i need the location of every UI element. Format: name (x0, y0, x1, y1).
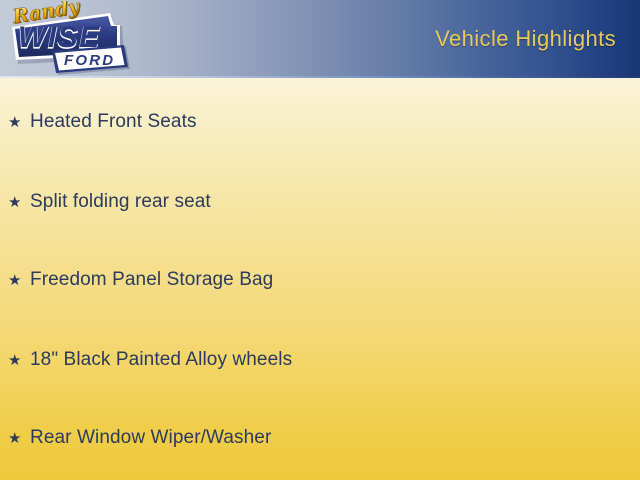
randy-wise-ford-logo: WISE WISE FORD Randy Randy (2, 1, 138, 77)
list-item: ★ Freedom Panel Storage Bag (8, 265, 273, 295)
star-icon: ★ (8, 115, 30, 130)
logo-ford-text: FORD (64, 52, 115, 69)
list-item: ★ Rear Window Wiper/Washer (8, 423, 271, 453)
page-title: Vehicle Highlights (435, 26, 616, 52)
list-item-label: Heated Front Seats (30, 112, 197, 133)
vehicle-highlights-list: ★ Heated Front Seats ★ Split folding rea… (0, 78, 640, 480)
header-bar: WISE WISE FORD Randy Randy Vehicle Highl… (0, 0, 640, 78)
star-icon: ★ (8, 353, 30, 368)
star-icon: ★ (8, 195, 30, 210)
star-icon: ★ (8, 431, 30, 446)
list-item: ★ Split folding rear seat (8, 187, 211, 217)
list-item: ★ 18" Black Painted Alloy wheels (8, 345, 292, 375)
list-item-label: Split folding rear seat (30, 192, 211, 213)
list-item-label: Rear Window Wiper/Washer (30, 428, 271, 449)
list-item-label: Freedom Panel Storage Bag (30, 270, 273, 291)
list-item-label: 18" Black Painted Alloy wheels (30, 350, 292, 371)
vehicle-highlights-slide: WISE WISE FORD Randy Randy Vehicle Highl… (0, 0, 640, 480)
list-item: ★ Heated Front Seats (8, 107, 197, 137)
star-icon: ★ (8, 273, 30, 288)
